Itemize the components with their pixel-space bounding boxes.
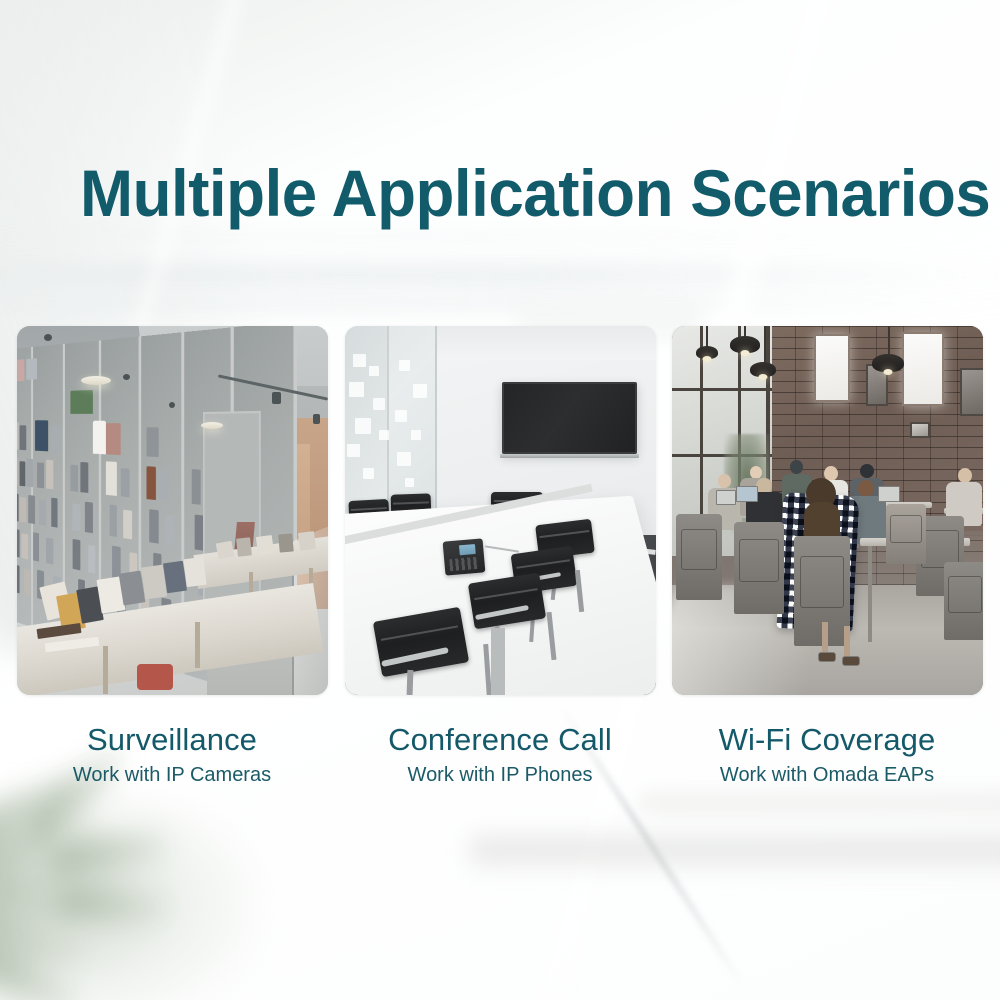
photo-library	[17, 326, 328, 695]
wall-art	[960, 368, 983, 416]
laptop	[716, 490, 736, 505]
pendant-lamp	[872, 354, 904, 372]
shoe	[818, 652, 836, 662]
pendant-lamp	[696, 346, 718, 359]
photo-cafe-coworking	[672, 326, 983, 695]
laptop	[878, 486, 900, 502]
scenario-card-wifi-coverage[interactable]	[672, 326, 983, 695]
scenario-card-grid	[0, 0, 1000, 1000]
caption-subtitle: Work with IP Phones	[335, 762, 665, 788]
ceiling-fixture	[169, 402, 175, 408]
ip-desk-phone	[443, 538, 486, 575]
wall-mounted-display	[502, 382, 637, 454]
pendant-lamp	[750, 362, 776, 377]
laptop	[736, 486, 758, 502]
caption-subtitle: Work with IP Cameras	[7, 762, 337, 788]
track-spotlight	[272, 392, 281, 404]
cafe-chair	[676, 514, 722, 600]
caption-conference-call: Conference Call Work with IP Phones	[335, 722, 665, 788]
cafe-chair	[944, 562, 983, 640]
wall-panel	[910, 422, 930, 438]
shoe	[842, 656, 860, 666]
scenario-card-conference-call[interactable]	[345, 326, 656, 695]
caption-wifi-coverage: Wi-Fi Coverage Work with Omada EAPs	[662, 722, 992, 788]
ceiling-fixture	[44, 334, 52, 341]
caption-subtitle: Work with Omada EAPs	[662, 762, 992, 788]
pendant-lamp	[730, 336, 760, 353]
cafe-chair	[734, 522, 784, 614]
scenario-card-surveillance[interactable]	[17, 326, 328, 695]
caption-title: Wi-Fi Coverage	[662, 722, 992, 758]
ceiling-lamp	[201, 422, 223, 429]
ceiling-fixture	[123, 374, 130, 380]
window	[902, 332, 944, 406]
photo-conference-room	[345, 326, 656, 695]
window	[814, 334, 850, 402]
ceiling-lamp	[81, 376, 111, 385]
cafe-chair	[886, 504, 926, 564]
caption-surveillance: Surveillance Work with IP Cameras	[7, 722, 337, 788]
caption-title: Conference Call	[335, 722, 665, 758]
caption-title: Surveillance	[7, 722, 337, 758]
track-spotlight	[313, 414, 320, 424]
